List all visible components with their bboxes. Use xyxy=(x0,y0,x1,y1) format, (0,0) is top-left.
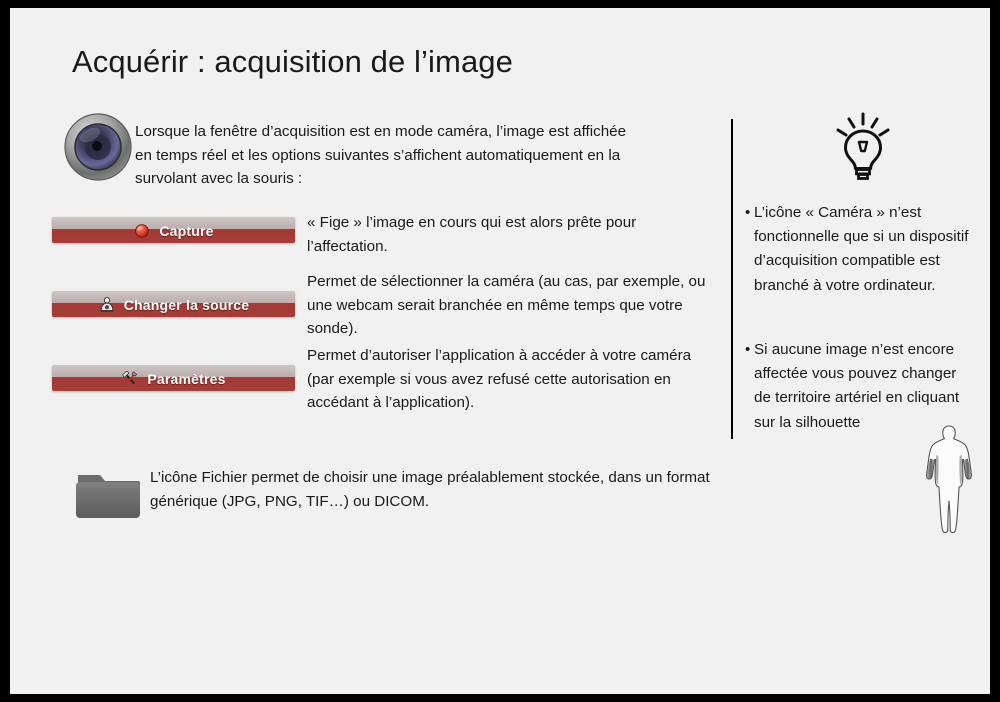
camera-intro-text: Lorsque la fenêtre d’acquisition est en … xyxy=(135,120,635,191)
settings-button[interactable]: Paramètres xyxy=(52,365,295,391)
capture-button-label: Capture xyxy=(159,223,213,239)
folder-icon xyxy=(72,465,144,523)
slide-canvas: Acquérir : acquisition de l’image xyxy=(10,8,990,694)
tip-bullet-2-text: Si aucune image n’est encore affectée vo… xyxy=(754,338,969,435)
change-source-button[interactable]: Changer la source xyxy=(52,291,295,317)
slide-frame: Acquérir : acquisition de l’image xyxy=(0,0,1000,702)
tools-hammer-wrench-icon xyxy=(121,370,139,388)
human-silhouette-icon[interactable] xyxy=(918,423,980,535)
change-source-description: Permet de sélectionner la caméra (au cas… xyxy=(307,270,707,341)
folder-description: L’icône Fichier permet de choisir une im… xyxy=(150,466,710,513)
camera-lens-icon xyxy=(62,111,134,183)
right-column: • L’icône « Caméra » n’est fonctionnelle… xyxy=(732,8,990,694)
tip-bullet-1-text: L’icône « Caméra » n’est fonctionnelle q… xyxy=(754,201,969,298)
bullet-marker: • xyxy=(732,201,754,225)
settings-button-label: Paramètres xyxy=(147,371,225,387)
left-column: Lorsque la fenêtre d’acquisition est en … xyxy=(10,8,730,694)
tip-bullet-2: • Si aucune image n’est encore affectée … xyxy=(732,338,990,435)
camera-device-icon xyxy=(98,296,116,314)
settings-description: Permet d’autoriser l’application à accéd… xyxy=(307,344,697,415)
red-record-dot-icon xyxy=(133,222,151,240)
capture-button[interactable]: Capture xyxy=(52,217,295,243)
capture-description: « Fige » l’image en cours qui est alors … xyxy=(307,211,687,258)
tip-bullet-1: • L’icône « Caméra » n’est fonctionnelle… xyxy=(732,201,990,298)
change-source-button-label: Changer la source xyxy=(124,297,250,313)
lightbulb-tip-icon xyxy=(832,111,894,183)
bullet-marker: • xyxy=(732,338,754,362)
